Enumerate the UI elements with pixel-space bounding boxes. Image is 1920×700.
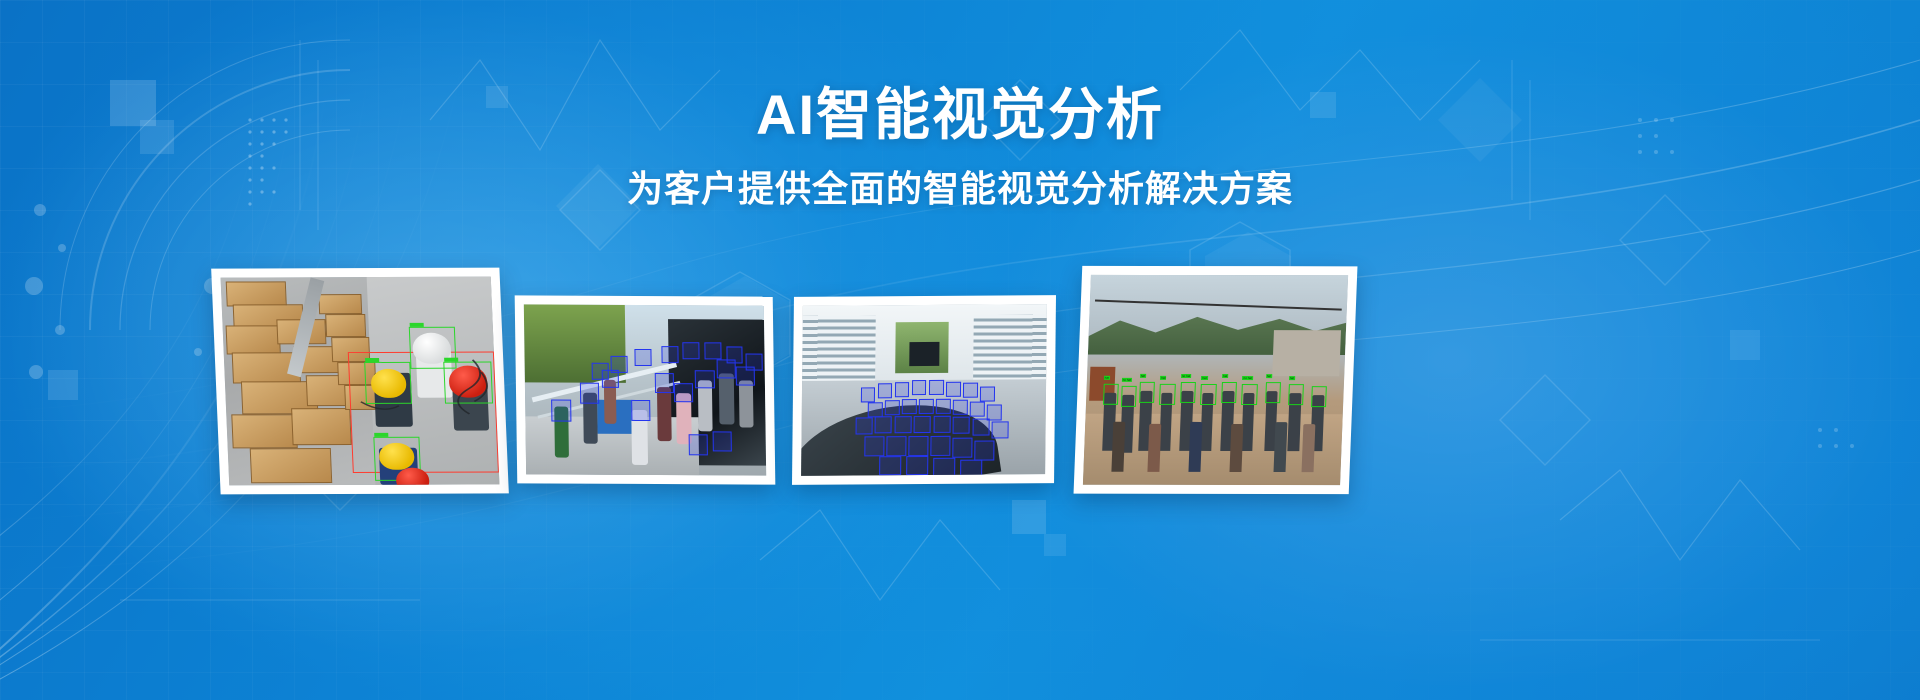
- detection-box-face: [552, 400, 571, 422]
- detection-label-hat: hat: [1222, 374, 1228, 378]
- detection-box-face: [661, 346, 678, 363]
- power-line: [1095, 300, 1342, 311]
- ai-vision-banner: AI智能视觉分析 为客户提供全面的智能视觉分析解决方案: [0, 0, 1920, 700]
- detection-box-face: [635, 349, 652, 366]
- banner-copy: AI智能视觉分析 为客户提供全面的智能视觉分析解决方案: [0, 84, 1920, 210]
- detection-box-face: [704, 343, 721, 360]
- gallery-photo-station-escalator-crowd-detection[interactable]: [792, 295, 1056, 485]
- scene-warehouse: [221, 277, 500, 486]
- detection-label-hat: hat: [1104, 376, 1110, 380]
- detection-label-hat: hat: [1201, 376, 1207, 380]
- building: [1272, 330, 1341, 376]
- louvre-panel-right: [973, 314, 1047, 379]
- pedestrian: [738, 380, 753, 428]
- detection-label-no-hat: no hat: [1122, 378, 1133, 382]
- detection-box-face: [654, 373, 673, 393]
- detection-box-face: [713, 431, 732, 451]
- detection-label-hat: hat: [1266, 374, 1272, 378]
- detection-label-no-hat: no hat: [1181, 374, 1192, 378]
- louvre-panel-left: [802, 316, 876, 381]
- page-subtitle: 为客户提供全面的智能视觉分析解决方案: [0, 167, 1920, 210]
- detection-label-hat: hat: [1140, 374, 1146, 378]
- gallery-photo-warehouse-helmet-detection[interactable]: [211, 268, 509, 495]
- detection-box-face: [580, 383, 599, 403]
- gallery-photo-footbridge-crowd-face-detection[interactable]: [515, 295, 776, 484]
- scene-outdoor-group: hat no hat hat hat no hat hat: [1083, 275, 1348, 485]
- pedestrian: [719, 373, 734, 424]
- cable-clutter: [221, 277, 500, 486]
- detection-label-hat: hat: [1289, 376, 1295, 380]
- detection-box-face: [611, 356, 628, 373]
- photo-gallery: hat no hat hat hat no hat hat: [0, 258, 1920, 518]
- detection-box-face: [631, 400, 650, 420]
- pedestrian: [657, 387, 672, 441]
- detection-box-face: [683, 343, 700, 360]
- detection-box-face: [689, 434, 708, 454]
- page-title: AI智能视觉分析: [0, 84, 1920, 147]
- scene-station: [801, 304, 1047, 476]
- display-screen: [910, 342, 940, 366]
- detection-box-face: [745, 353, 762, 370]
- detection-box-face: [726, 346, 743, 363]
- detection-box-face: [695, 370, 714, 389]
- scene-footbridge: [524, 304, 766, 475]
- detection-box-face: [674, 383, 693, 402]
- gallery-photo-outdoor-group-helmet-detection[interactable]: hat no hat hat hat no hat hat: [1074, 266, 1358, 494]
- detection-box-face: [592, 363, 609, 380]
- detection-label-no-hat: no hat: [1243, 376, 1254, 380]
- detection-label-hat: hat: [1160, 376, 1166, 380]
